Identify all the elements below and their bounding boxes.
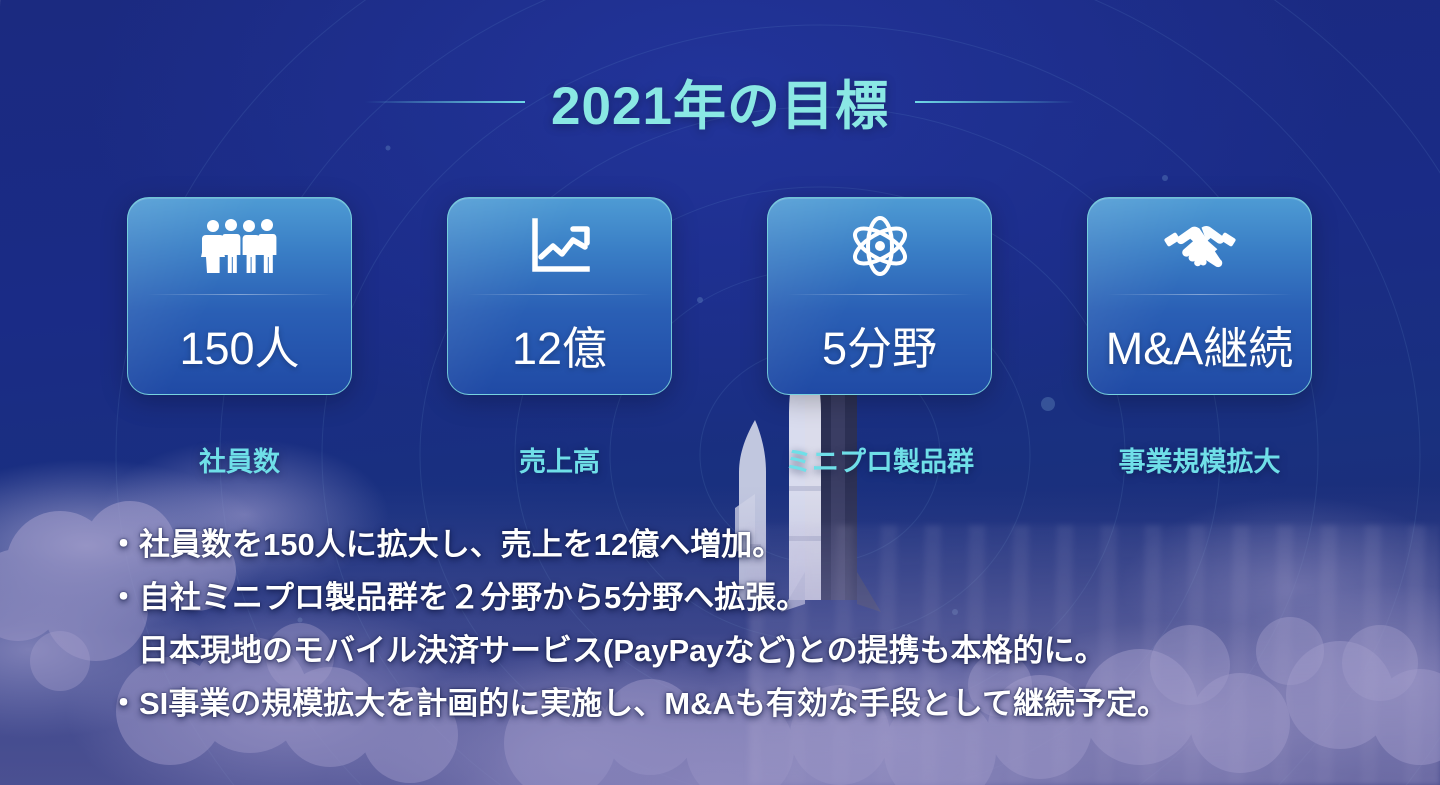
- stat-caption-row: 社員数 売上高 ミニプロ製品群 事業規模拡大: [127, 440, 1312, 479]
- bullet-list: ・社員数を150人に拡大し、売上を12億へ増加。 ・自社ミニプロ製品群を２分野か…: [108, 518, 1380, 730]
- title-rule-right: [915, 101, 1075, 103]
- bullet-item: 日本現地のモバイル決済サービス(PayPayなど)との提携も本格的に。: [108, 624, 1380, 677]
- atom-icon: [768, 198, 991, 294]
- stat-value: 150人: [179, 295, 299, 394]
- handshake-icon: [1088, 198, 1311, 294]
- slide-canvas: 2021年の目標 150人: [0, 0, 1440, 785]
- caption-revenue: 売上高: [447, 440, 672, 479]
- stat-card-headcount[interactable]: 150人: [127, 197, 352, 395]
- page-title: 2021年の目標: [551, 64, 889, 140]
- title-rule-left: [365, 101, 525, 103]
- caption-domains: ミニプロ製品群: [767, 440, 992, 479]
- stat-value: 12億: [512, 295, 607, 394]
- stat-value: 5分野: [822, 295, 937, 394]
- bullet-item: ・自社ミニプロ製品群を２分野から5分野へ拡張。: [108, 571, 1380, 624]
- title-row: 2021年の目標: [0, 64, 1440, 140]
- stat-card-ma[interactable]: M&A継続: [1087, 197, 1312, 395]
- caption-headcount: 社員数: [127, 440, 352, 479]
- bullet-item: ・社員数を150人に拡大し、売上を12億へ増加。: [108, 518, 1380, 571]
- stat-card-revenue[interactable]: 12億: [447, 197, 672, 395]
- stat-card-domains[interactable]: 5分野: [767, 197, 992, 395]
- people-group-icon: [128, 198, 351, 294]
- stat-card-row: 150人 12億: [127, 197, 1312, 395]
- stat-value: M&A継続: [1106, 295, 1294, 394]
- caption-ma: 事業規模拡大: [1087, 440, 1312, 479]
- bullet-item: ・SI事業の規模拡大を計画的に実施し、M&Aも有効な手段として継続予定。: [108, 677, 1380, 730]
- growth-chart-icon: [448, 198, 671, 294]
